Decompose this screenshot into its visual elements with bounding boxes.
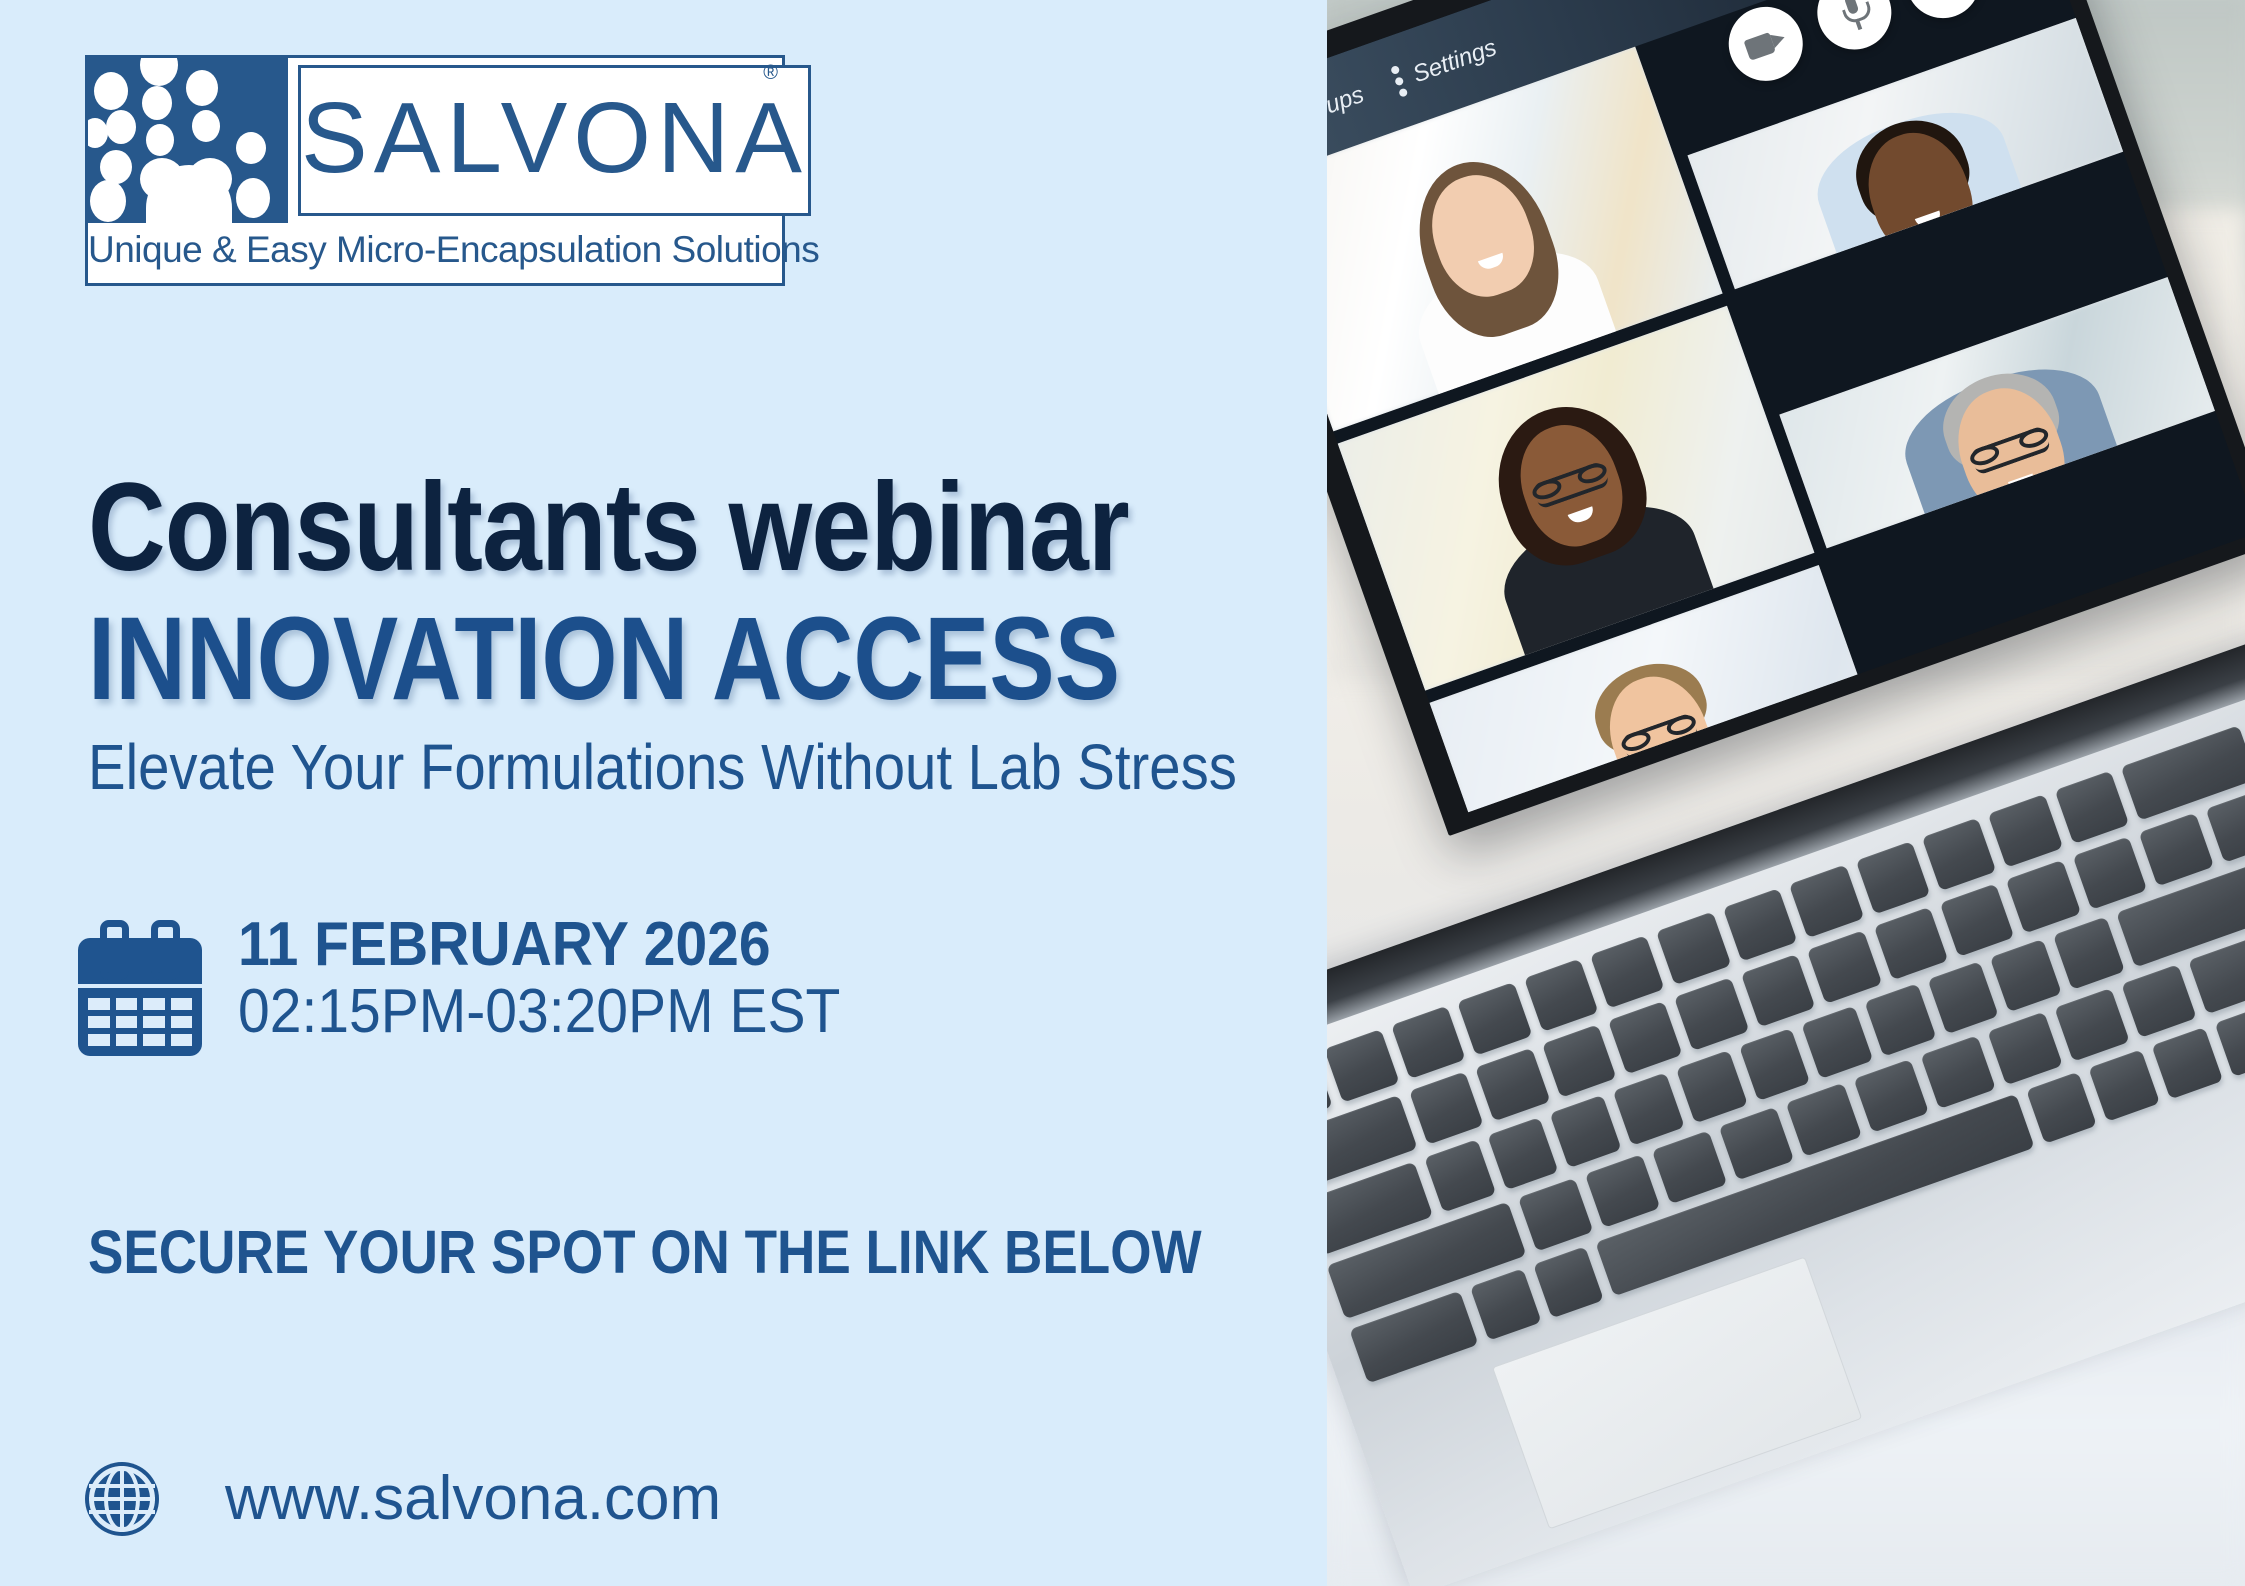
groups-menu-item[interactable]: Groups	[1327, 80, 1368, 148]
page-title-line2: INNOVATION ACCESS	[88, 600, 1120, 718]
event-datetime-text: 11 FEBRUARY 2026 02:15PM-03:20PM EST	[238, 912, 893, 1047]
page-subtitle: Elevate Your Formulations Without Lab St…	[88, 735, 1237, 799]
logo-wordmark-box: SALVONA	[298, 65, 811, 216]
event-date: 11 FEBRUARY 2026	[238, 912, 840, 977]
settings-menu-item[interactable]: Settings	[1390, 32, 1501, 98]
registered-trademark-icon: ®	[763, 62, 778, 85]
calendar-icon	[78, 920, 202, 1056]
laptop-video-call-photo: Groups Settings	[1327, 0, 2245, 1586]
cta-text: SECURE YOUR SPOT ON THE LINK BELOW	[88, 1222, 1202, 1283]
three-dots-icon	[1390, 65, 1408, 98]
participant-tile-4[interactable]	[1779, 277, 2215, 549]
webinar-promo-poster: SALVONA ® Unique & Easy Micro-Encapsulat…	[0, 0, 2245, 1586]
groups-label: Groups	[1327, 81, 1368, 134]
logo-wordmark-text: SALVONA	[301, 88, 808, 194]
globe-icon	[85, 1462, 159, 1536]
microcapsule-bubbles-icon	[88, 58, 288, 223]
event-time: 02:15PM-03:20PM EST	[238, 977, 840, 1046]
left-content-panel: SALVONA ® Unique & Easy Micro-Encapsulat…	[0, 0, 1327, 1586]
logo-tagline: Unique & Easy Micro-Encapsulation Soluti…	[88, 223, 782, 283]
video-camera-icon	[1743, 25, 1789, 63]
website-block[interactable]: www.salvona.com	[85, 1462, 721, 1536]
page-title-line1: Consultants webinar	[88, 465, 1129, 590]
settings-label: Settings	[1409, 34, 1500, 89]
salvona-logo: SALVONA ® Unique & Easy Micro-Encapsulat…	[85, 55, 785, 286]
list-icon	[1920, 0, 1965, 1]
participant-grid	[1327, 0, 2245, 812]
microphone-icon	[1837, 0, 1872, 33]
website-url[interactable]: www.salvona.com	[225, 1468, 721, 1530]
logo-top-row: SALVONA ®	[88, 58, 782, 223]
event-datetime-block: 11 FEBRUARY 2026 02:15PM-03:20PM EST	[78, 912, 893, 1056]
video-call-screen: Groups Settings	[1327, 0, 2245, 812]
